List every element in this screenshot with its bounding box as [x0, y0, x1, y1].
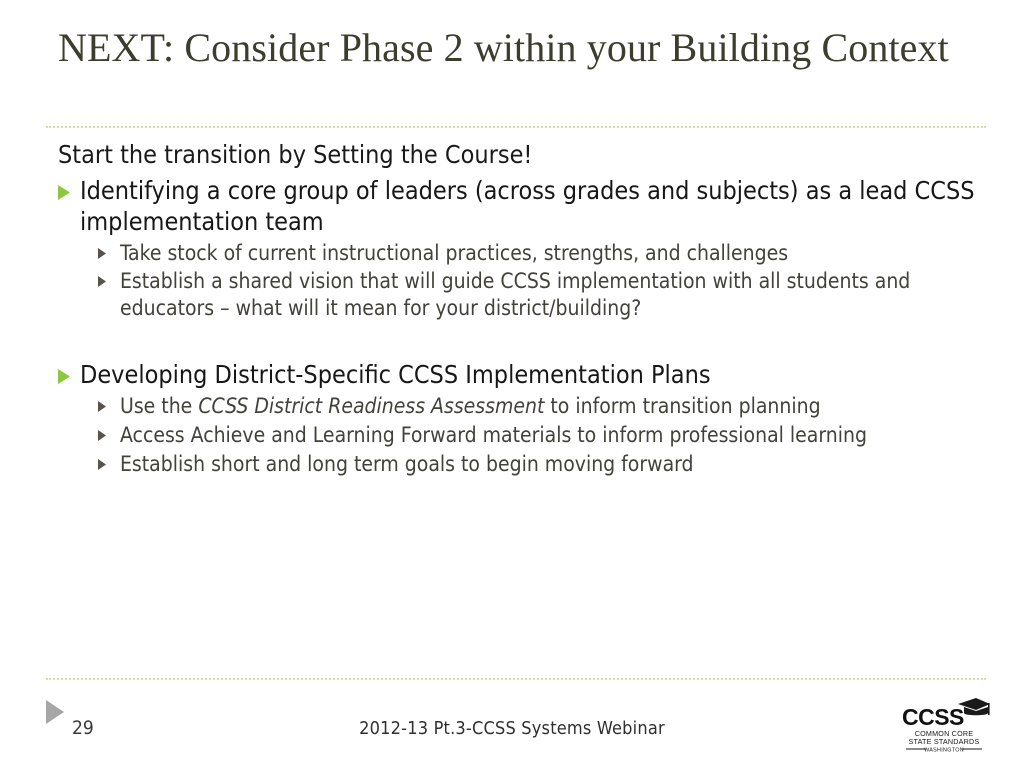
slide: NEXT: Consider Phase 2 within your Build…	[0, 0, 1024, 768]
bullet-level2: Establish short and long term goals to b…	[98, 451, 996, 478]
bullet-level1-text: Developing District-Specific CCSS Implem…	[80, 360, 711, 391]
svg-text:STATE STANDARDS: STATE STANDARDS	[909, 737, 980, 746]
sub-text-italic: CCSS District Readiness Assessment	[198, 394, 544, 418]
lead-line: Start the transition by Setting the Cour…	[58, 140, 996, 170]
bullet-level1: Identifying a core group of leaders (acr…	[58, 176, 996, 238]
green-triangle-icon	[58, 176, 80, 200]
green-triangle-icon	[58, 360, 80, 384]
sub-text-before: Use the	[120, 394, 198, 418]
gray-triangle-icon	[98, 268, 120, 287]
bullet-level2-text: Use the CCSS District Readiness Assessme…	[120, 393, 821, 420]
ccss-logo: CCSS COMMON CORE STATE STANDARDS WASHING…	[898, 696, 990, 752]
bullet-level1-text: Identifying a core group of leaders (acr…	[80, 176, 996, 238]
title-area: NEXT: Consider Phase 2 within your Build…	[58, 22, 958, 73]
bullet-level2-text: Establish a shared vision that will guid…	[120, 268, 996, 322]
bullet-level2-text: Take stock of current instructional prac…	[120, 240, 788, 267]
gray-triangle-icon	[98, 240, 120, 259]
slide-body: Start the transition by Setting the Cour…	[46, 140, 996, 480]
svg-text:WASHINGTON: WASHINGTON	[924, 748, 964, 753]
bullet-level2: Establish a shared vision that will guid…	[98, 268, 996, 322]
sub-text-after: to inform transition planning	[544, 394, 820, 418]
bullet-level1: Developing District-Specific CCSS Implem…	[58, 360, 996, 391]
gray-triangle-icon	[98, 451, 120, 470]
bullet-level2-text: Access Achieve and Learning Forward mate…	[120, 422, 867, 449]
title-divider	[46, 126, 986, 128]
bullet-level2: Use the CCSS District Readiness Assessme…	[98, 393, 996, 420]
footer-divider	[46, 678, 986, 680]
page-title: NEXT: Consider Phase 2 within your Build…	[58, 22, 958, 73]
footer-text: 2012-13 Pt.3-CCSS Systems Webinar	[0, 718, 1024, 739]
bullet-level2: Access Achieve and Learning Forward mate…	[98, 422, 996, 449]
section-spacer	[46, 324, 996, 356]
svg-text:CCSS: CCSS	[902, 704, 964, 730]
gray-triangle-icon	[98, 422, 120, 441]
gray-triangle-icon	[98, 393, 120, 412]
bullet-level2: Take stock of current instructional prac…	[98, 240, 996, 267]
bullet-level2-text: Establish short and long term goals to b…	[120, 451, 694, 478]
